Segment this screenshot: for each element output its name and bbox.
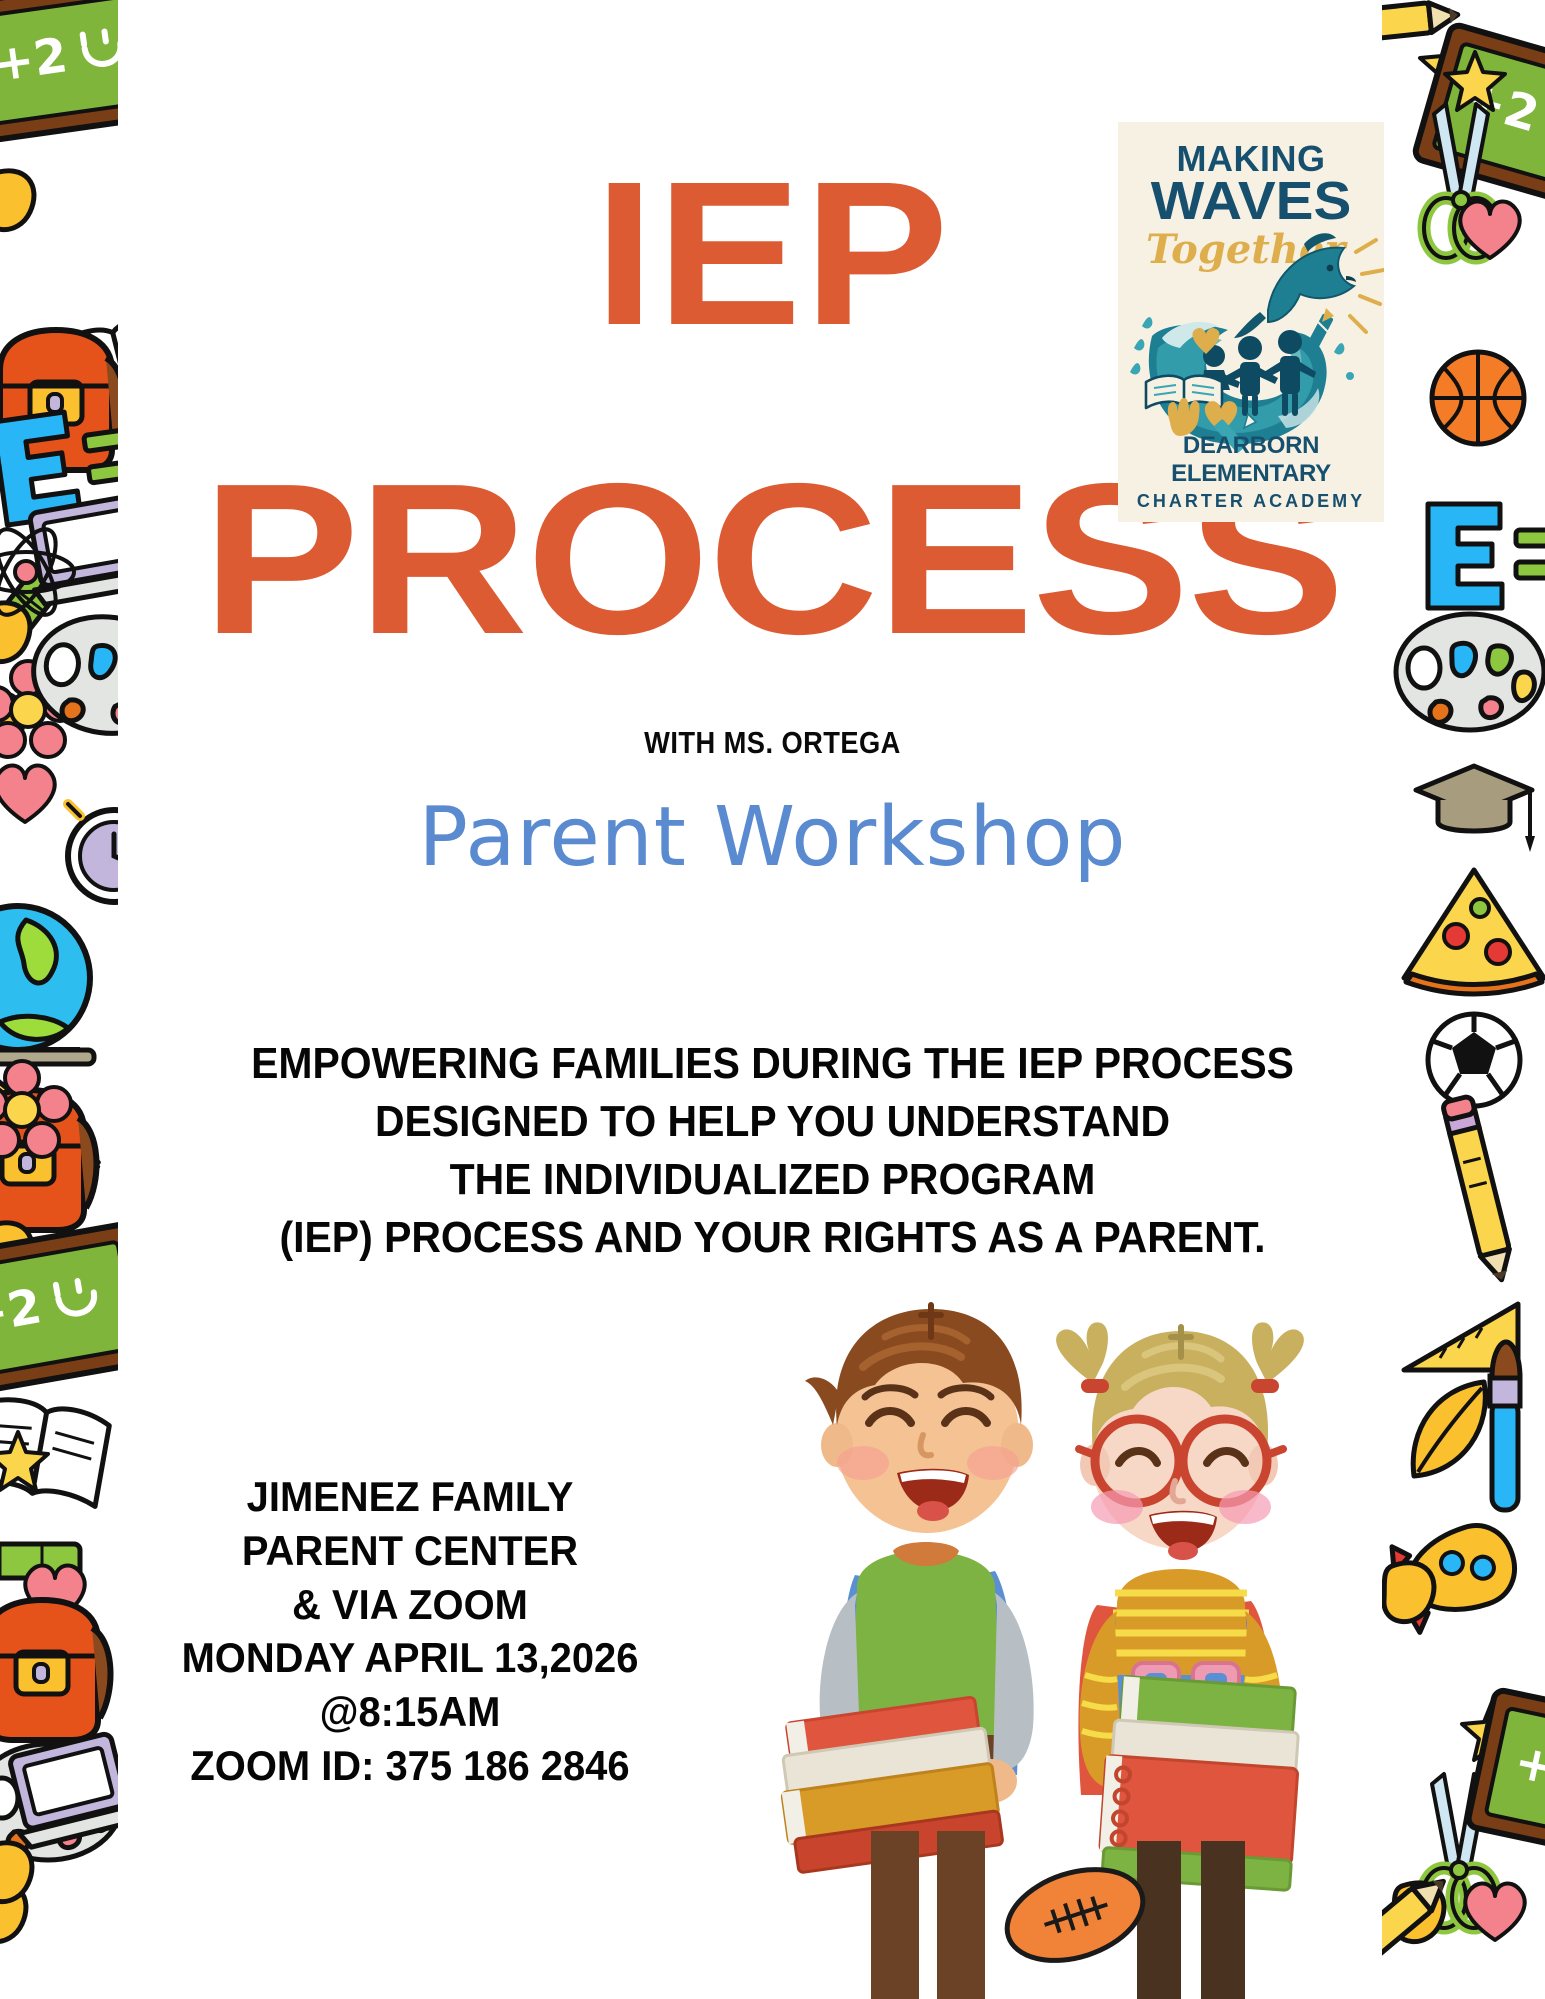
description-line-1: EMPOWERING FAMILIES DURING THE IEP PROCE…	[54, 1035, 1491, 1093]
description-line-4: (IEP) PROCESS AND YOUR RIGHTS AS A PAREN…	[54, 1209, 1491, 1267]
venue-line-3: & VIA ZOOM	[163, 1578, 657, 1632]
presenter-label: WITH MS. ORTEGA	[93, 725, 1453, 761]
event-time: @8:15AM	[163, 1685, 657, 1739]
school-logo: MAKING WAVES Together	[1118, 122, 1384, 522]
venue-line-2: PARENT CENTER	[163, 1524, 657, 1578]
event-date: MONDAY APRIL 13,2026	[163, 1631, 657, 1685]
venue-line-1: JIMENEZ FAMILY	[163, 1470, 657, 1524]
logo-line-waves: WAVES	[1118, 170, 1384, 232]
zoom-id: ZOOM ID: 375 186 2846	[163, 1739, 657, 1793]
description-line-2: DESIGNED TO HELP YOU UNDERSTAND	[54, 1093, 1491, 1151]
description-block: EMPOWERING FAMILIES DURING THE IEP PROCE…	[54, 1035, 1491, 1267]
logo-school-name: DEARBORN ELEMENTARY	[1118, 432, 1384, 488]
workshop-subtitle: Parent Workshop	[0, 790, 1545, 885]
flyer-page: +2	[0, 0, 1545, 1999]
logo-school-type: CHARTER ACADEMY	[1118, 491, 1384, 512]
logo-wave-illustration	[1118, 230, 1384, 465]
description-line-3: THE INDIVIDUALIZED PROGRAM	[54, 1151, 1491, 1209]
event-details-block: JIMENEZ FAMILY PARENT CENTER & VIA ZOOM …	[163, 1470, 657, 1793]
